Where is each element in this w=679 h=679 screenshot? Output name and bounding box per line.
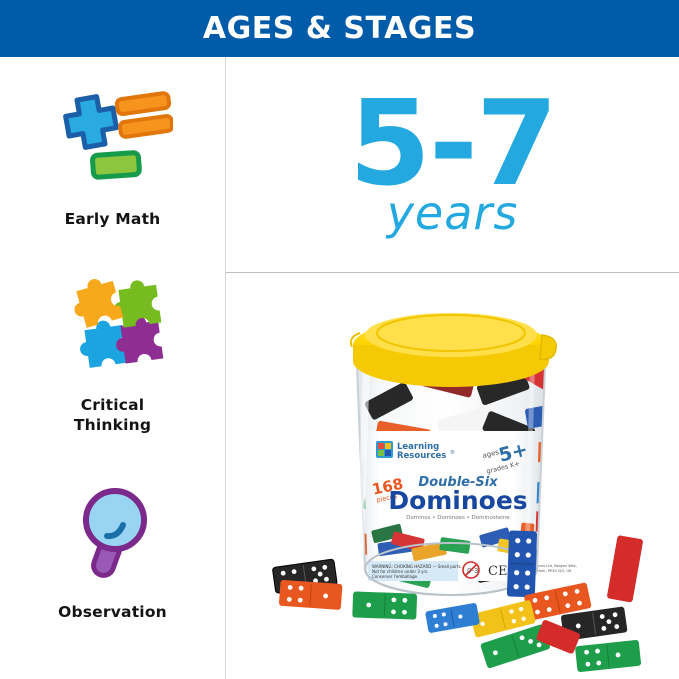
feature-label-observation: Observation <box>58 602 167 622</box>
svg-text:Conserver l'emballage.: Conserver l'emballage. <box>372 574 418 579</box>
feature-label-early-math: Early Math <box>65 209 161 229</box>
page-title: AGES & STAGES <box>203 14 476 44</box>
ce-mark: CE <box>488 564 507 579</box>
magnifying-glass-icon <box>53 472 173 592</box>
svg-text:Resources: Resources <box>397 451 446 461</box>
puzzle-pieces-icon <box>53 265 173 385</box>
page-header-banner: AGES & STAGES <box>0 0 679 57</box>
math-symbols-icon <box>53 79 173 199</box>
product-photo: Learning Resources ® ages 5+ grades K+ 1… <box>226 273 679 679</box>
feature-observation: Observation <box>0 472 225 622</box>
svg-text:0-3: 0-3 <box>467 567 478 575</box>
product-lid <box>351 313 556 387</box>
features-sidebar: Early Math <box>0 57 225 679</box>
feature-critical-thinking: Critical Thinking <box>0 265 225 436</box>
svg-text:®: ® <box>450 449 455 456</box>
feature-label-line1: Critical <box>81 396 145 414</box>
product-title: Dominoes <box>388 486 527 515</box>
age-range-value: 5-7 <box>349 93 556 194</box>
age-range-unit: years <box>387 190 519 236</box>
age-range-panel: 5-7 years <box>226 57 679 272</box>
feature-label-line2: Thinking <box>74 416 151 434</box>
feature-early-math: Early Math <box>0 79 225 229</box>
product-image-panel: Learning Resources ® ages 5+ grades K+ 1… <box>226 273 679 679</box>
feature-label-critical-thinking: Critical Thinking <box>74 395 151 436</box>
product-multilingual: Dominos • Dominoes • Dominosteine <box>406 515 510 521</box>
